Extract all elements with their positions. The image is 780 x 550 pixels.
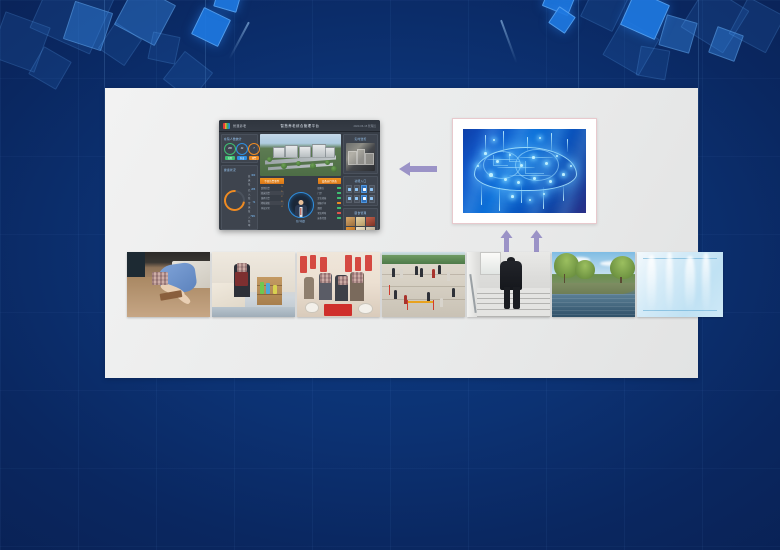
scene-wall — [127, 252, 145, 278]
brain-beam — [481, 185, 482, 205]
alarm-events-table: 跌倒告警 3 离床告警 5 越界告警 2 — [260, 186, 284, 228]
scene-window — [480, 252, 500, 275]
camera-title: 实时监控 — [346, 137, 375, 141]
slide-content-panel: 智慧养老 智慧养老综合管理平台 2023-06-15 管理员 在院人数统计 28… — [105, 88, 698, 378]
scene-decoration — [355, 257, 361, 271]
status-badge — [337, 187, 341, 189]
hero-tree — [331, 166, 337, 172]
gauge-label: 预警 — [249, 156, 259, 160]
arrow-up-icon-1 — [500, 230, 513, 252]
device-label: 紧急呼叫 — [318, 211, 327, 215]
alarm-events-header[interactable]: 今日告警事件 — [260, 178, 284, 184]
scene-person — [427, 292, 430, 301]
gauge-ring: 7 — [248, 143, 260, 155]
meal-photo[interactable] — [366, 227, 375, 231]
camera-icon[interactable] — [346, 195, 352, 203]
row-label: 离床告警 — [261, 191, 270, 195]
scene-post — [407, 300, 408, 310]
avatar — [288, 192, 314, 218]
camera-object — [348, 151, 357, 165]
deco-streak — [500, 20, 518, 64]
meal-photo[interactable] — [366, 217, 375, 226]
gauge-ring: 286 — [224, 143, 236, 155]
table-row: 体征异常 4 — [260, 206, 284, 210]
hero-building — [273, 147, 285, 158]
deco-square — [636, 46, 671, 81]
row-value: 8 — [281, 201, 282, 205]
gauge-item[interactable]: 42 外出 — [236, 143, 248, 160]
scene-person-vest — [235, 272, 247, 286]
scene-bowl — [305, 302, 319, 313]
status-badge — [337, 212, 341, 214]
stat-value: 79% — [250, 215, 255, 227]
list-item: 紧急呼叫 — [318, 211, 342, 215]
blurred-face — [320, 273, 331, 283]
scene-floor — [212, 307, 295, 317]
gauge-label: 在院 — [225, 156, 235, 160]
hero-building — [299, 146, 312, 158]
row-label: 呼叫求助 — [261, 201, 270, 205]
brain-node — [484, 152, 487, 155]
bed-icon[interactable] — [354, 185, 360, 193]
thumb-activity-room[interactable] — [297, 252, 380, 317]
scene-willow-tree — [610, 256, 635, 279]
list-item: 定位终端 — [318, 196, 342, 200]
scene-post — [433, 300, 434, 310]
row-label: 跌倒告警 — [261, 186, 270, 190]
scene-tablecloth — [324, 304, 352, 316]
meal-photo[interactable] — [356, 217, 365, 226]
slide-canvas: 智慧养老 智慧养老综合管理平台 2023-06-15 管理员 在院人数统计 28… — [0, 0, 780, 550]
brain-beam — [521, 185, 522, 203]
brain-node — [493, 139, 495, 141]
heart-icon[interactable] — [361, 185, 367, 193]
status-badge — [337, 202, 341, 204]
stat-value: 360 — [251, 174, 255, 186]
scene-person — [304, 277, 315, 299]
resident-profile-avatar[interactable]: 住户档案 — [286, 186, 316, 228]
deco-square — [147, 31, 180, 64]
table-row: 呼叫求助 8 — [260, 201, 284, 205]
brain-fold — [519, 157, 553, 158]
list-item: 摄像头 — [318, 186, 342, 190]
brain-node — [562, 173, 565, 176]
dashboard-header-meta: 2023-06-15 管理员 — [353, 124, 376, 128]
status-badge — [337, 192, 341, 194]
scene-water — [552, 294, 635, 317]
center-bar-row: 今日告警事件 设备运行状态 — [260, 178, 341, 184]
gallery-title: 膳食管理 — [346, 211, 375, 215]
placeholder-wisp — [702, 253, 710, 314]
scene-stair — [477, 310, 550, 317]
scene-person-leg — [504, 287, 511, 309]
meal-gallery-card: 膳食管理 — [343, 208, 378, 231]
device-label: 健康手环 — [318, 201, 327, 205]
camera-object — [365, 153, 375, 166]
hero-tree — [310, 163, 316, 169]
scene-person — [394, 290, 397, 299]
list-item: 床垫传感 — [318, 216, 342, 220]
scenario-photo-strip — [127, 252, 723, 317]
scene-person — [400, 269, 403, 278]
ai-brain-image — [463, 129, 586, 213]
dashboard-title: 智慧养老综合管理平台 — [249, 123, 350, 128]
list-item: 烟感 — [318, 206, 342, 210]
table-row: 跌倒告警 3 — [260, 186, 284, 190]
stat-row: 总床位 360 — [248, 174, 255, 186]
brain-beam — [563, 185, 564, 201]
scene-decoration — [320, 257, 327, 273]
dashboard-center-column: 今日告警事件 设备运行状态 跌倒告警 3 离床告警 5 — [260, 134, 341, 228]
live-camera-feed[interactable] — [346, 143, 375, 171]
scene-post — [389, 285, 390, 295]
placeholder-wisp — [685, 256, 694, 313]
deco-streak — [228, 22, 249, 60]
device-label: 定位终端 — [318, 196, 327, 200]
brain-node — [532, 156, 535, 159]
brain-beam — [543, 187, 544, 209]
arrow-left-icon — [399, 161, 437, 177]
meal-photo[interactable] — [346, 217, 355, 226]
dashboard-body: 在院人数统计 286 在院 42 外出 7 — [219, 132, 380, 230]
scene-person — [447, 272, 450, 281]
device-label: 床垫传感 — [318, 216, 327, 220]
health-donut-chart — [220, 186, 249, 215]
avatar-caption: 住户档案 — [296, 219, 305, 223]
occupancy-stats: 总床位 360 已入住 286 空床位 74 — [248, 174, 255, 227]
thumb-placeholder[interactable] — [637, 252, 723, 317]
stat-row: 空床位 74 — [248, 201, 255, 213]
scene-person — [420, 268, 423, 277]
function-icon-grid — [346, 185, 375, 203]
thumb-bedroom-care[interactable] — [212, 252, 295, 317]
table-row: 离床告警 5 — [260, 191, 284, 195]
brain-beam — [551, 133, 552, 152]
alarm-icon[interactable] — [369, 185, 375, 193]
gauge-item[interactable]: 286 在院 — [224, 143, 236, 160]
occupancy-gauges-card: 在院人数统计 286 在院 42 外出 7 — [221, 134, 258, 163]
pill-icon[interactable] — [361, 195, 367, 203]
blurred-face — [152, 272, 169, 285]
deco-square — [213, 0, 243, 13]
scene-decoration — [300, 256, 307, 273]
scene-bottle — [273, 285, 277, 293]
scene-bottle — [260, 282, 264, 294]
platform-logo-icon — [223, 123, 230, 129]
health-donut-card: 健康状况 总床位 360 已入住 286 — [221, 165, 258, 230]
scene-person — [432, 269, 435, 278]
scene-person — [392, 268, 395, 277]
status-badge — [337, 217, 341, 219]
brain-node — [489, 173, 493, 177]
scene-barrier — [407, 301, 434, 302]
brain-beam — [485, 135, 486, 153]
thumb-park-waterside[interactable] — [552, 252, 635, 317]
device-label: 门禁 — [318, 191, 322, 195]
dashboard-right-column: 实时监控 功能入口 — [343, 134, 378, 228]
dashboard-logo-label: 智慧养老 — [233, 123, 246, 128]
meal-photo[interactable] — [356, 227, 365, 231]
ai-brain-panel[interactable] — [452, 118, 597, 224]
list-item: 健康手环 — [318, 201, 342, 205]
scene-person — [440, 298, 443, 307]
campus-3d-view[interactable] — [260, 134, 341, 176]
meal-photo-grid — [346, 217, 375, 231]
row-value: 4 — [281, 206, 282, 210]
blurred-face — [338, 276, 348, 285]
brain-beam — [527, 137, 528, 151]
brain-fold — [509, 175, 551, 176]
device-status-header[interactable]: 设备运行状态 — [318, 178, 342, 184]
blurred-face — [237, 263, 247, 272]
stat-row: 已入住 286 — [248, 188, 255, 200]
placeholder-wisp — [666, 252, 673, 314]
dashboard-left-column: 在院人数统计 286 在院 42 外出 7 — [221, 134, 258, 228]
scene-bowl — [358, 303, 373, 315]
function-icons-card: 功能入口 — [343, 176, 378, 206]
scene-decoration — [365, 255, 372, 271]
scene-greenery — [382, 255, 465, 264]
icons-title: 功能入口 — [346, 179, 375, 183]
avatar-person-icon — [294, 199, 307, 217]
row-value: 5 — [281, 191, 282, 195]
brain-node — [545, 162, 548, 165]
device-label: 烟感 — [318, 206, 322, 210]
scene-decoration — [345, 255, 352, 272]
gauge-item[interactable]: 7 预警 — [248, 143, 260, 160]
row-value: 3 — [281, 186, 282, 190]
brain-node — [511, 195, 514, 198]
avatar-tie — [300, 208, 301, 215]
status-badge — [337, 197, 341, 199]
hero-tree — [281, 163, 287, 169]
user-icon[interactable] — [346, 185, 352, 193]
scene-person-leg — [513, 287, 520, 309]
brain-beam — [503, 131, 504, 153]
device-status-list: 摄像头 门禁 定位终端 — [318, 186, 342, 228]
scene-willow-tree — [575, 260, 595, 280]
table-row: 越界告警 2 — [260, 196, 284, 200]
list-item: 门禁 — [318, 191, 342, 195]
brain-circuit — [525, 161, 544, 174]
deco-square — [191, 7, 231, 47]
row-label: 越界告警 — [261, 196, 270, 200]
arrow-up-icon-2 — [530, 230, 543, 252]
brain-beam — [567, 139, 568, 152]
stat-value: 74 — [253, 201, 256, 213]
scene-person — [415, 266, 418, 275]
brain-node — [504, 178, 507, 181]
stat-value: 286 — [251, 188, 255, 200]
device-label: 摄像头 — [318, 186, 325, 190]
scene-bottle — [266, 283, 270, 293]
chart-icon[interactable] — [369, 195, 375, 203]
scene-person — [452, 288, 455, 297]
gauge-label: 外出 — [237, 156, 247, 160]
thumb-fall-detection[interactable] — [127, 252, 210, 317]
hero-building — [285, 145, 298, 158]
thumb-stairway[interactable] — [467, 252, 550, 317]
door-icon[interactable] — [354, 195, 360, 203]
row-value: 2 — [281, 196, 282, 200]
live-camera-card: 实时监控 — [343, 134, 378, 174]
gauges-row: 286 在院 42 外出 7 预警 — [224, 143, 255, 160]
scene-person-body — [500, 261, 522, 290]
arrow-up-group — [500, 230, 543, 252]
donut-row: 总床位 360 已入住 286 空床位 74 — [224, 174, 255, 227]
status-badge — [337, 207, 341, 209]
brain-node — [533, 177, 536, 180]
dashboard-screenshot[interactable]: 智慧养老 智慧养老综合管理平台 2023-06-15 管理员 在院人数统计 28… — [219, 120, 380, 230]
scene-decoration — [310, 255, 316, 269]
meal-photo[interactable] — [346, 227, 355, 231]
placeholder-wisp — [647, 255, 656, 315]
gauge-ring: 42 — [236, 143, 248, 155]
donut-title: 健康状况 — [224, 168, 255, 172]
blurred-face — [352, 272, 364, 282]
dashboard-header: 智慧养老 智慧养老综合管理平台 2023-06-15 管理员 — [219, 120, 380, 132]
hero-building — [325, 147, 335, 157]
brain-beam — [499, 187, 500, 211]
center-detail-row: 跌倒告警 3 离床告警 5 越界告警 2 — [260, 186, 341, 228]
row-label: 体征异常 — [261, 206, 270, 210]
hero-tree — [325, 160, 330, 165]
stat-row: 入住率 79% — [248, 215, 255, 227]
scene-person — [438, 265, 441, 274]
gauges-title: 在院人数统计 — [224, 137, 255, 141]
thumb-courtyard[interactable] — [382, 252, 465, 317]
